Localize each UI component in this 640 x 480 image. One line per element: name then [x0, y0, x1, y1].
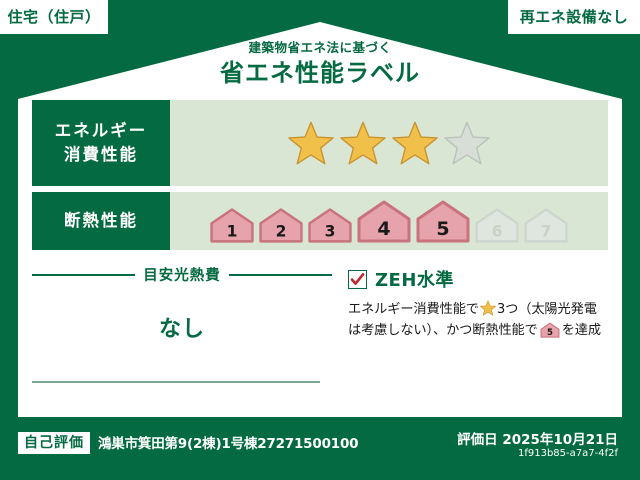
house-level-off: 6	[474, 207, 520, 243]
insulation-performance-row: 断熱性能 1234567	[32, 192, 608, 250]
house-icon-inline-number: 5	[547, 328, 553, 338]
label-body: エネルギー 消費性能 断熱性能 1234567 目安光熱費	[32, 100, 608, 383]
check-icon	[350, 272, 365, 287]
zeh-standard-label: ZEH水準	[375, 266, 454, 292]
utility-cost-value: なし	[32, 311, 332, 343]
energy-performance-label: 住宅（住戸） 再エネ設備なし 建築物省エネ法に基づく 省エネ性能ラベル エネルギ…	[0, 0, 640, 480]
self-evaluation-badge: 自己評価	[18, 432, 90, 454]
house-level-number: 2	[276, 222, 287, 240]
star-rating	[288, 120, 490, 166]
house-level-on: 3	[307, 207, 353, 243]
house-level-number: 3	[325, 222, 336, 240]
zeh-block: ZEH水準 エネルギー消費性能で 3つ（太陽光発電 は考慮しない）、かつ断熱性能…	[332, 264, 608, 383]
evaluation-date: 評価日 2025年10月21日	[457, 428, 618, 448]
house-level-scale: 1234567	[209, 199, 569, 243]
zeh-checkbox[interactable]	[348, 270, 367, 289]
property-address: 鴻巣市箕田第9(2棟)1号棟27271500100	[98, 434, 358, 454]
utility-cost-title: 目安光熱費	[143, 264, 221, 285]
zeh-desc-star-count: 3つ（太陽光発電	[497, 302, 597, 317]
zeh-desc-part2: は考慮しない）、かつ断熱性能で	[348, 323, 538, 338]
energy-performance-label-box: エネルギー 消費性能	[32, 100, 170, 186]
house-level-on: 4	[356, 199, 412, 243]
zeh-title-row: ZEH水準	[348, 266, 608, 292]
evaluation-id: 1f913b85-a7a7-4f2f	[518, 448, 618, 459]
star-icon-filled	[340, 120, 386, 166]
house-level-on: 2	[258, 207, 304, 243]
insulation-performance-value: 1234567	[170, 192, 608, 250]
cost-rule-left	[32, 274, 135, 276]
insulation-label: 断熱性能	[64, 209, 138, 233]
star-icon-filled	[288, 120, 334, 166]
page-title: 省エネ性能ラベル	[0, 58, 640, 88]
utility-cost-block: 目安光熱費 なし	[32, 264, 332, 383]
heading-subtitle: 建築物省エネ法に基づく	[0, 40, 640, 56]
star-icon-inline	[480, 300, 496, 316]
house-level-on: 5	[415, 199, 471, 243]
label-heading: 建築物省エネ法に基づく 省エネ性能ラベル	[0, 40, 640, 88]
star-icon-filled	[392, 120, 438, 166]
zeh-desc-part1: エネルギー消費性能で	[348, 302, 479, 317]
house-level-number: 6	[492, 222, 503, 240]
zeh-description: エネルギー消費性能で 3つ（太陽光発電 は考慮しない）、かつ断熱性能で 5 を達…	[348, 299, 608, 341]
house-level-off: 7	[523, 207, 569, 243]
insulation-performance-label-box: 断熱性能	[32, 192, 170, 250]
house-level-number: 1	[227, 222, 238, 240]
tab-building-type: 住宅（住戸）	[0, 0, 108, 34]
house-level-number: 5	[436, 218, 449, 240]
tab-renewable-energy: 再エネ設備なし	[508, 0, 640, 34]
energy-performance-value	[170, 100, 608, 186]
energy-label-line2: 消費性能	[64, 143, 138, 167]
utility-cost-heading: 目安光熱費	[32, 264, 332, 285]
house-level-on: 1	[209, 207, 255, 243]
label-footer: 自己評価 鴻巣市箕田第9(2棟)1号棟27271500100 評価日 2025年…	[0, 418, 640, 480]
star-icon-empty	[444, 120, 490, 166]
house-level-number: 4	[377, 218, 390, 240]
section-divider	[32, 381, 320, 383]
energy-label-line1: エネルギー	[55, 119, 148, 143]
cost-rule-right	[229, 274, 332, 276]
lower-section: 目安光熱費 なし ZEH水準 エネルギー消費性能で	[32, 264, 608, 383]
house-level-number: 7	[541, 222, 552, 240]
energy-performance-row: エネルギー 消費性能	[32, 100, 608, 186]
zeh-desc-part3: を達成	[562, 323, 601, 338]
house-icon-inline: 5	[540, 322, 560, 338]
